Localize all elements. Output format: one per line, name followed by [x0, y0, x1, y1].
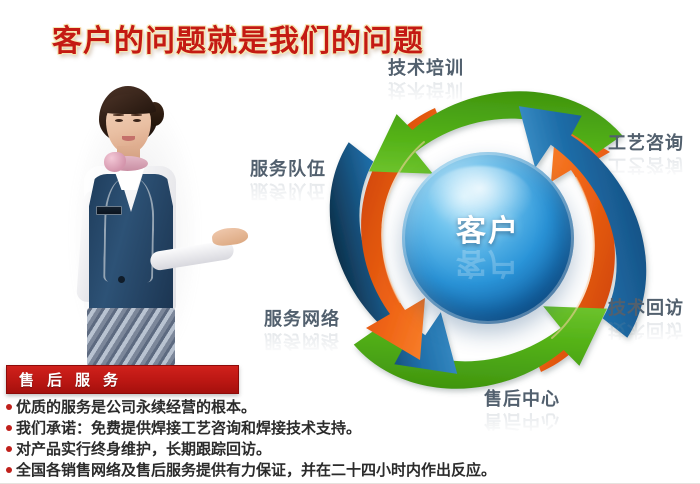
list-item: 对产品实行终身维护，长期跟踪回访。 — [6, 438, 526, 459]
list-item: 我们承诺：免费提供焊接工艺咨询和焊接技术支持。 — [6, 417, 526, 438]
eyebrow-left — [113, 114, 124, 116]
service-representative-photo — [52, 86, 242, 378]
eyebrow-right — [131, 114, 142, 116]
diagram-label-wangluo-reflection: 服务网络 — [264, 329, 340, 355]
vest-button — [118, 276, 125, 283]
poster-root: 客户的问题就是我们的问题 — [0, 0, 700, 484]
circular-arrow-diagram: 客户 客户 — [318, 70, 658, 410]
diagram-label-zixun-reflection: 工艺咨询 — [608, 153, 684, 179]
bullet-dot-icon — [6, 425, 12, 431]
center-label-reflection: 客户 — [402, 244, 574, 288]
bullet-dot-icon — [6, 404, 12, 410]
diagram-label-zixun-text: 工艺咨询 — [608, 133, 684, 154]
list-item-text: 对产品实行终身维护，长期跟踪回访。 — [16, 438, 271, 459]
list-item: 全国各销售网络及售后服务提供有力保证，并在二十四小时内作出反应。 — [6, 459, 526, 480]
vest-trim — [103, 178, 155, 283]
open-palm-hand — [211, 226, 249, 247]
list-item: 优质的服务是公司永续经营的根本。 — [6, 396, 526, 417]
bullet-dot-icon — [6, 467, 12, 473]
list-item-text: 我们承诺：免费提供焊接工艺咨询和焊接技术支持。 — [16, 417, 361, 438]
list-item-text: 优质的服务是公司永续经营的根本。 — [16, 396, 256, 417]
name-badge — [96, 206, 122, 215]
diagram-label-duiwu: 服务队伍 服务队伍 — [250, 155, 326, 205]
diagram-label-huifang: 技术回访 技术回访 — [608, 294, 684, 344]
diagram-label-huifang-reflection: 技术回访 — [608, 318, 684, 344]
center-sphere: 客户 客户 — [402, 152, 574, 324]
diagram-label-duiwu-reflection: 服务队伍 — [250, 179, 326, 205]
eye-left — [115, 119, 123, 122]
diagram-label-zixun: 工艺咨询 工艺咨询 — [608, 129, 684, 179]
bullet-dot-icon — [6, 446, 12, 452]
diagram-label-wangluo: 服务网络 服务网络 — [264, 305, 340, 355]
page-title: 客户的问题就是我们的问题 — [52, 16, 424, 60]
service-commitment-list: 优质的服务是公司永续经营的根本。 我们承诺：免费提供焊接工艺咨询和焊接技术支持。… — [6, 396, 526, 480]
mouth — [122, 136, 135, 141]
diagram-label-peixun-reflection: 技术培训 — [388, 78, 464, 104]
section-banner-title: 售后服务 — [7, 369, 131, 390]
diagram-label-duiwu-text: 服务队伍 — [250, 159, 326, 180]
diagram-label-wangluo-text: 服务网络 — [264, 309, 340, 330]
diagram-label-huifang-text: 技术回访 — [608, 298, 684, 319]
section-banner: 售后服务 — [6, 365, 239, 394]
diagram-label-peixun-text: 技术培训 — [388, 58, 464, 79]
eye-right — [133, 119, 141, 122]
diagram-label-peixun: 技术培训 技术培训 — [388, 54, 464, 104]
list-item-text: 全国各销售网络及售后服务提供有力保证，并在二十四小时内作出反应。 — [16, 459, 496, 480]
